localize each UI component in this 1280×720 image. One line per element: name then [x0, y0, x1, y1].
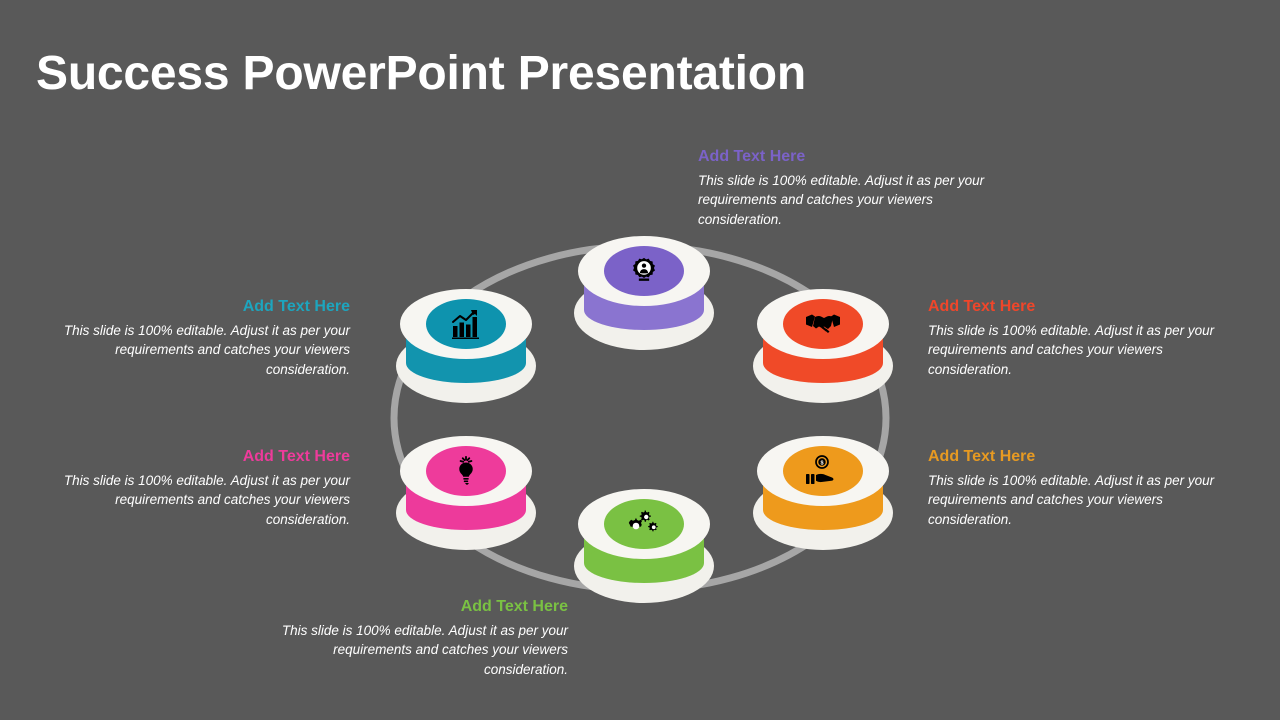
- callout-lower-left: Add Text HereThis slide is 100% editable…: [60, 447, 350, 529]
- callout-heading: Add Text Here: [928, 297, 1218, 317]
- callout-body: This slide is 100% editable. Adjust it a…: [60, 321, 350, 379]
- node-face: [604, 499, 684, 549]
- growth-bar-chart-icon: [450, 309, 482, 339]
- node-lower-left[interactable]: [396, 432, 536, 550]
- lightbulb-icon: [451, 456, 481, 486]
- slide-canvas: Success PowerPoint Presentation: [0, 0, 1280, 720]
- callout-upper-right: Add Text HereThis slide is 100% editable…: [928, 297, 1218, 379]
- callout-bottom: Add Text HereThis slide is 100% editable…: [278, 597, 568, 679]
- svg-text:$: $: [820, 460, 823, 466]
- node-face: [426, 446, 506, 496]
- callout-heading: Add Text Here: [60, 297, 350, 317]
- node-upper-right[interactable]: [753, 285, 893, 403]
- node-lower-right[interactable]: $: [753, 432, 893, 550]
- node-face: [426, 299, 506, 349]
- node-bottom[interactable]: [574, 485, 714, 603]
- callout-heading: Add Text Here: [928, 447, 1218, 467]
- handshake-icon: [805, 310, 841, 338]
- callout-body: This slide is 100% editable. Adjust it a…: [928, 471, 1218, 529]
- callout-body: This slide is 100% editable. Adjust it a…: [60, 471, 350, 529]
- callout-lower-right: Add Text HereThis slide is 100% editable…: [928, 447, 1218, 529]
- callout-heading: Add Text Here: [60, 447, 350, 467]
- node-upper-left[interactable]: [396, 285, 536, 403]
- callout-body: This slide is 100% editable. Adjust it a…: [278, 621, 568, 679]
- gears-icon: [627, 509, 661, 539]
- callout-body: This slide is 100% editable. Adjust it a…: [928, 321, 1218, 379]
- callout-heading: Add Text Here: [278, 597, 568, 617]
- callout-top: Add Text HereThis slide is 100% editable…: [698, 147, 988, 229]
- node-face: [604, 246, 684, 296]
- node-face: $: [783, 446, 863, 496]
- node-top[interactable]: [574, 232, 714, 350]
- hand-coin-icon: $: [805, 455, 841, 487]
- callout-upper-left: Add Text HereThis slide is 100% editable…: [60, 297, 350, 379]
- gear-person-icon: [629, 256, 659, 286]
- callout-body: This slide is 100% editable. Adjust it a…: [698, 171, 988, 229]
- callout-heading: Add Text Here: [698, 147, 988, 167]
- node-face: [783, 299, 863, 349]
